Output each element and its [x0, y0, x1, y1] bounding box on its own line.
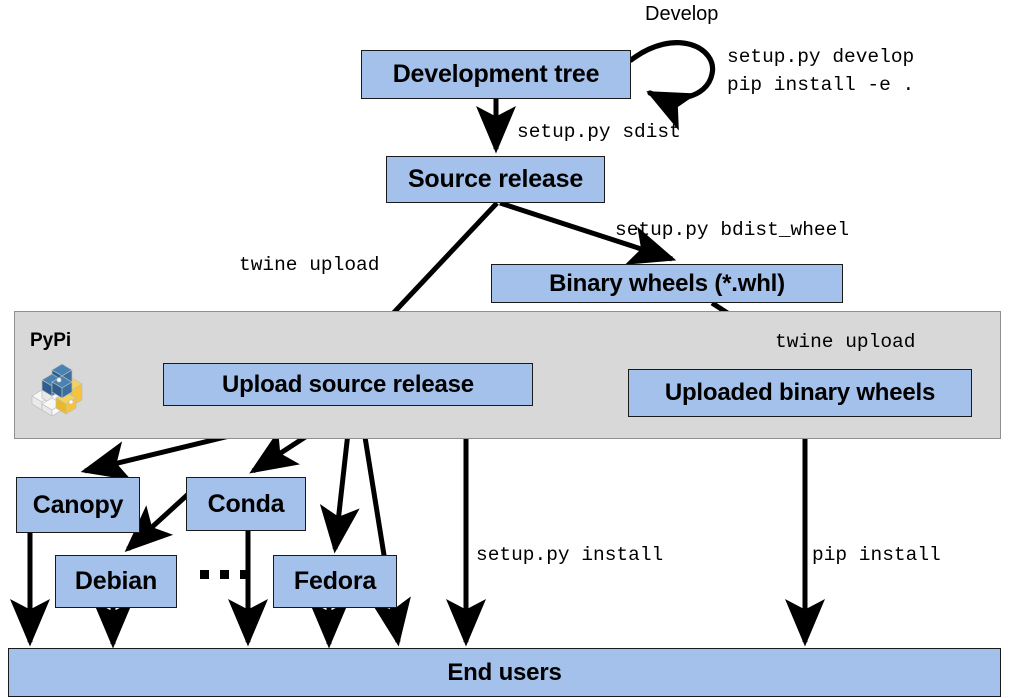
node-end-users[interactable]: End users [8, 648, 1001, 697]
node-source-release[interactable]: Source release [386, 156, 605, 203]
edge-develop-selfloop [631, 43, 713, 99]
label-develop: Develop [645, 3, 718, 26]
label-setup-py-install: setup.py install [476, 544, 663, 566]
node-uploaded-binary-wheels[interactable]: Uploaded binary wheels [628, 369, 972, 417]
ellipsis-dot [220, 570, 229, 579]
node-debian[interactable]: Debian [55, 555, 177, 608]
label-twine-upload-wheels: twine upload [775, 331, 915, 353]
node-fedora[interactable]: Fedora [273, 555, 397, 608]
node-binary-wheels[interactable]: Binary wheels (*.whl) [491, 264, 843, 303]
node-conda[interactable]: Conda [186, 477, 306, 531]
python-logo-icon [28, 358, 92, 416]
node-upload-source-release[interactable]: Upload source release [163, 363, 533, 406]
label-twine-upload-source: twine upload [239, 254, 379, 276]
node-development-tree[interactable]: Development tree [361, 50, 631, 99]
label-pip-install: pip install [812, 544, 941, 566]
label-setup-py-develop: setup.py develop [727, 46, 914, 68]
pypi-group-label: PyPi [30, 330, 71, 352]
diagram-canvas: PyPi [0, 0, 1009, 698]
label-setup-py-sdist: setup.py sdist [517, 121, 681, 143]
node-canopy[interactable]: Canopy [16, 477, 140, 533]
label-setup-py-bdist-wheel: setup.py bdist_wheel [615, 219, 849, 241]
ellipsis-dot [200, 570, 209, 579]
label-pip-install-editable: pip install -e . [727, 74, 914, 96]
ellipsis-dot [240, 570, 249, 579]
